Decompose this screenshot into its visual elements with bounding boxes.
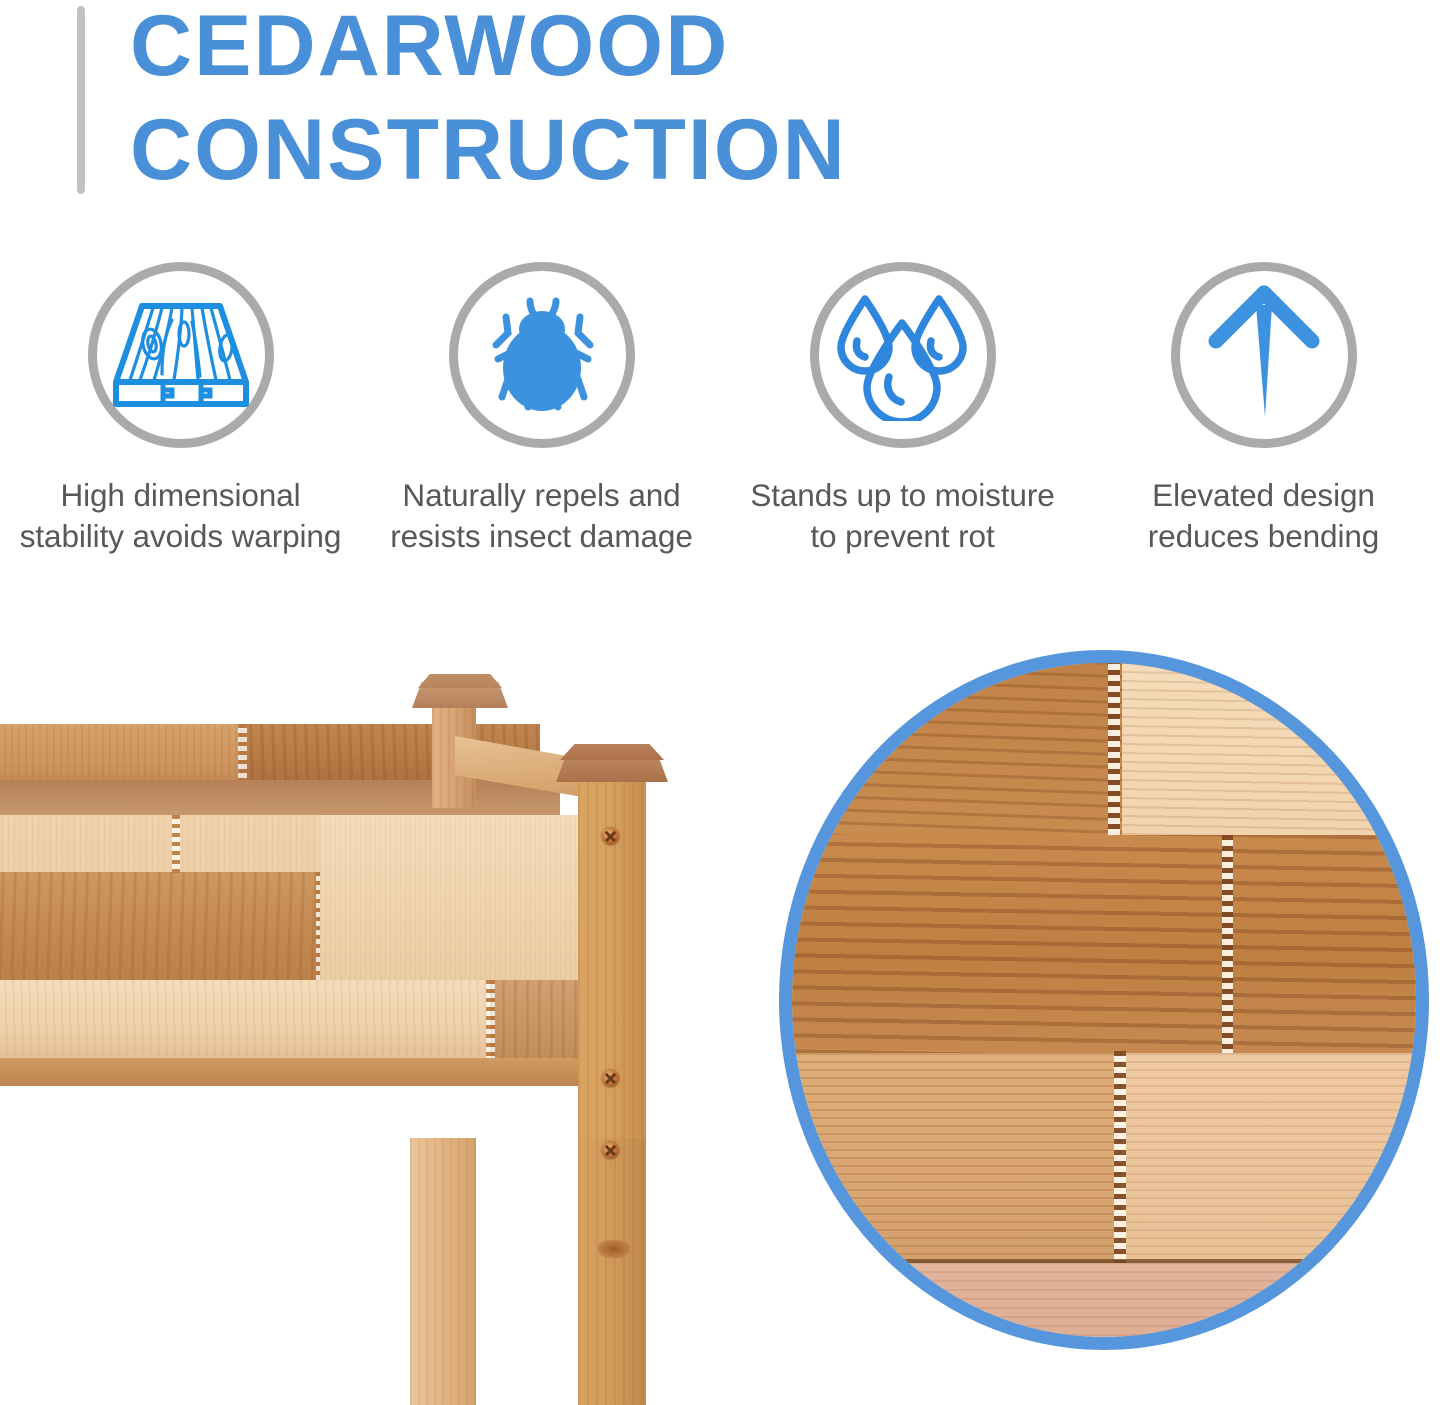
front-cap-bottom-edge xyxy=(0,1058,610,1086)
screw-head xyxy=(602,1142,619,1159)
front-leg xyxy=(410,1138,476,1405)
page-title-line-2: CONSTRUCTION xyxy=(130,98,1330,202)
feature-icon-ring-4 xyxy=(1171,262,1357,448)
page-title-line-1: CEDARWOOD xyxy=(130,0,1330,98)
insect-bug-icon xyxy=(472,285,612,425)
feature-list: High dimensional stability avoids warpin… xyxy=(0,262,1445,622)
up-arrow-icon xyxy=(1194,285,1334,425)
feature-item-insect: Naturally repels and resists insect dama… xyxy=(361,262,722,557)
finger-joint-comb xyxy=(238,724,247,780)
front-panel-dark-board xyxy=(0,872,320,980)
feature-item-stability: High dimensional stability avoids warpin… xyxy=(0,262,361,557)
feature-caption-4: Elevated design reduces bending xyxy=(1099,475,1429,557)
feature-item-elevated: Elevated design reduces bending xyxy=(1083,262,1444,557)
screw-head xyxy=(602,828,619,845)
finger-joint-comb xyxy=(486,980,495,1068)
magnified-finger-joint xyxy=(1108,659,1120,839)
feature-caption-3: Stands up to moisture to prevent rot xyxy=(738,475,1068,557)
rear-post-cap-bevel xyxy=(418,674,502,688)
rear-leg xyxy=(578,1138,646,1405)
finger-joint-comb xyxy=(172,815,180,873)
water-droplets-icon xyxy=(833,289,973,421)
front-post-cap-bevel xyxy=(560,744,664,760)
feature-icon-ring-3 xyxy=(810,262,996,448)
magnified-board-4 xyxy=(779,1263,1429,1350)
magnified-board-1-light xyxy=(1122,663,1429,835)
magnifier-content xyxy=(792,663,1416,1337)
wood-grain-magnifier xyxy=(779,650,1429,1350)
wood-knot xyxy=(598,1240,630,1258)
magnified-finger-joint xyxy=(1222,835,1233,1055)
magnified-board-3-light xyxy=(1122,1053,1429,1263)
header: CEDARWOOD CONSTRUCTION xyxy=(0,0,1445,230)
feature-caption-1: High dimensional stability avoids warpin… xyxy=(16,475,346,557)
magnified-finger-joint xyxy=(1114,1051,1126,1265)
bed-interior-shadow xyxy=(0,780,560,820)
wood-grain-plank-icon xyxy=(106,292,256,418)
feature-caption-2: Naturally repels and resists insect dama… xyxy=(377,475,707,557)
title-accent-rule xyxy=(77,6,85,194)
feature-icon-ring-2 xyxy=(449,262,635,448)
page-title: CEDARWOOD CONSTRUCTION xyxy=(130,0,1330,202)
screw-head xyxy=(602,1070,619,1087)
feature-item-moisture: Stands up to moisture to prevent rot xyxy=(722,262,1083,557)
magnified-board-2 xyxy=(779,835,1429,1053)
feature-icon-ring-1 xyxy=(88,262,274,448)
front-panel-upper-right xyxy=(320,815,600,980)
